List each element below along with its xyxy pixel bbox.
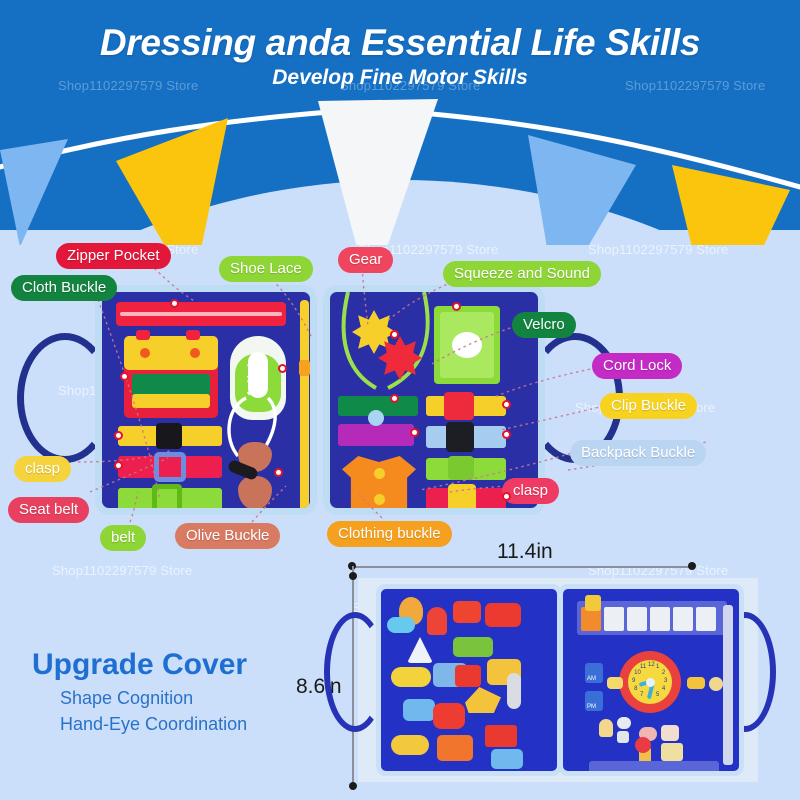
feature-label-clasp: clasp <box>14 456 71 482</box>
feature-label-backpack-buckle: Backpack Buckle <box>570 440 706 466</box>
clip-buckle-black <box>446 422 474 452</box>
cord-lock-toggle <box>368 410 384 426</box>
anchor-dot <box>274 468 283 477</box>
anchor-dot <box>114 461 123 470</box>
weather-icon-sun <box>599 719 613 737</box>
coat-button-bottom <box>374 494 385 505</box>
pm-indicator: PM <box>585 691 603 711</box>
weather-icon-cloud <box>617 717 631 729</box>
upgrade-benefit-2: Hand-Eye Coordination <box>60 714 247 735</box>
season-disc <box>709 677 723 691</box>
upgrade-benefit-1: Shape Cognition <box>60 688 193 709</box>
cover-tab-right-bottom <box>737 717 744 743</box>
height-dimension-dot-top <box>349 572 357 580</box>
olive-buckle-bottom <box>238 476 272 510</box>
sticker-race-car <box>485 603 521 627</box>
height-dimension-dot-bottom <box>349 782 357 790</box>
calendar-card-4 <box>650 607 670 631</box>
page-title: Dressing anda Essential Life Skills <box>0 22 800 64</box>
clock-numeral: 3 <box>664 678 667 684</box>
anchor-dot <box>502 492 511 501</box>
anchor-dot <box>502 400 511 409</box>
sticker-submarine <box>391 667 431 687</box>
anchor-dot <box>410 428 419 437</box>
product-infographic: Dressing anda Essential Life Skills Deve… <box>0 0 800 800</box>
anchor-dot <box>114 431 123 440</box>
green-clip-hardware <box>448 456 474 480</box>
feature-label-squeeze-and-sound: Squeeze and Sound <box>443 261 601 287</box>
upgrade-cover-photo: 121234567891011 AM PM <box>358 578 758 782</box>
width-dimension-line <box>352 566 692 568</box>
pocket-insert-green <box>132 374 210 396</box>
feature-label-shoe-lace: Shoe Lace <box>219 256 313 282</box>
cord-lock-band <box>338 424 414 446</box>
feature-label-clip-buckle: Clip Buckle <box>600 393 697 419</box>
feature-label-cord-lock: Cord Lock <box>592 353 682 379</box>
clock-numeral: 10 <box>634 670 641 676</box>
sticker-airplane <box>387 617 415 633</box>
feature-label-gear: Gear <box>338 247 393 273</box>
width-dimension-label: 11.4in <box>497 540 553 564</box>
sticker-jet <box>391 735 429 755</box>
pocket-flap <box>124 336 218 370</box>
bunting-decoration <box>0 95 800 245</box>
zipper-teeth <box>120 312 282 316</box>
pocket-insert-yellow <box>132 394 210 408</box>
anchor-dot <box>170 299 179 308</box>
number-spinner <box>661 743 683 761</box>
sticker-excavator-arm <box>465 687 501 713</box>
sticker-ladder <box>507 673 521 709</box>
side-ruler <box>723 605 733 765</box>
anchor-dot <box>390 330 399 339</box>
calendar-tab-yellow <box>585 595 601 611</box>
vertical-zipper <box>300 300 309 512</box>
am-indicator: AM <box>585 663 603 683</box>
clock-period-label: AM <box>587 676 596 682</box>
feature-label-olive-buckle: Olive Buckle <box>175 523 280 549</box>
pointer-left <box>607 677 623 689</box>
anchor-dot <box>164 514 173 515</box>
anchor-dot <box>376 512 385 515</box>
feature-label-seat-belt: Seat belt <box>8 497 89 523</box>
sticker-tractor <box>437 735 473 761</box>
dial-red <box>635 737 651 753</box>
pocket-tab-left <box>136 330 150 340</box>
sticker-truck-bed <box>455 665 481 687</box>
anchor-dot <box>452 302 461 311</box>
belt-buckle-frame <box>154 452 186 482</box>
clock-numeral: 12 <box>648 662 655 668</box>
page-subtitle: Develop Fine Motor Skills <box>0 66 800 90</box>
weather-icon-rain <box>617 731 629 743</box>
clock-numeral: 2 <box>662 670 665 676</box>
width-dimension-dot-right <box>688 562 696 570</box>
feature-label-zipper-pocket: Zipper Pocket <box>56 243 171 269</box>
clock-numeral: 11 <box>640 664 646 670</box>
sticker-sailboat <box>407 637 433 663</box>
clock-numeral: 9 <box>632 678 635 684</box>
busy-board-illustration <box>95 285 545 515</box>
sticker-helicopter <box>403 699 435 721</box>
clip-buckle-hardware <box>156 423 182 449</box>
board-panel-left <box>95 285 317 515</box>
sticker-rocket <box>427 607 447 635</box>
backpack-buckle-hardware <box>444 392 474 420</box>
sticker-bus <box>453 637 493 657</box>
clock-numeral: 8 <box>634 686 637 692</box>
feature-label-clasp: clasp <box>502 478 559 504</box>
pocket-button-right <box>190 348 200 358</box>
clock-center-pin <box>646 678 655 687</box>
anchor-dot <box>390 394 399 403</box>
feature-label-belt: belt <box>100 525 146 551</box>
pocket-tab-right <box>186 330 200 340</box>
gear-red <box>378 336 422 380</box>
clock-numeral: 4 <box>662 686 665 692</box>
calendar-card-3 <box>627 607 647 631</box>
green-belt-buckle <box>152 484 182 514</box>
feature-label-cloth-buckle: Cloth Buckle <box>11 275 117 301</box>
clock-numeral: 5 <box>656 692 659 698</box>
squeeze-bubble <box>452 332 482 358</box>
anchor-dot <box>502 430 511 439</box>
sticker-dump-truck <box>485 725 517 747</box>
sticker-plane-red <box>433 703 465 729</box>
anchor-dot <box>120 372 129 381</box>
clock-period-label: PM <box>587 704 596 710</box>
clock-numeral: 7 <box>640 692 643 698</box>
anchor-dot <box>278 364 287 373</box>
calendar-card-5 <box>673 607 693 631</box>
weather-icon-snow <box>661 725 679 741</box>
feature-label-velcro: Velcro <box>512 312 576 338</box>
pointer-right <box>687 677 705 689</box>
zipper-pull <box>299 360 310 376</box>
coat-button-top <box>374 468 385 479</box>
calendar-card-6 <box>696 607 716 631</box>
cover-panel-vehicles <box>376 584 562 776</box>
sticker-pickup <box>491 749 523 769</box>
calendar-card-2 <box>604 607 624 631</box>
clothing-buckle-coat <box>342 456 416 515</box>
pocket-button-left <box>140 348 150 358</box>
sticker-scooter <box>453 601 481 623</box>
clock-numeral: 1 <box>656 664 659 670</box>
feature-label-clothing-buckle: Clothing buckle <box>327 521 452 547</box>
upgrade-cover-title: Upgrade Cover <box>32 648 247 682</box>
clasp-hardware-yellow <box>448 484 476 514</box>
cover-tab-right-top <box>737 617 744 643</box>
cover-panel-clock-calendar: 121234567891011 AM PM <box>558 584 744 776</box>
calendar-bottom-strip <box>589 761 719 773</box>
